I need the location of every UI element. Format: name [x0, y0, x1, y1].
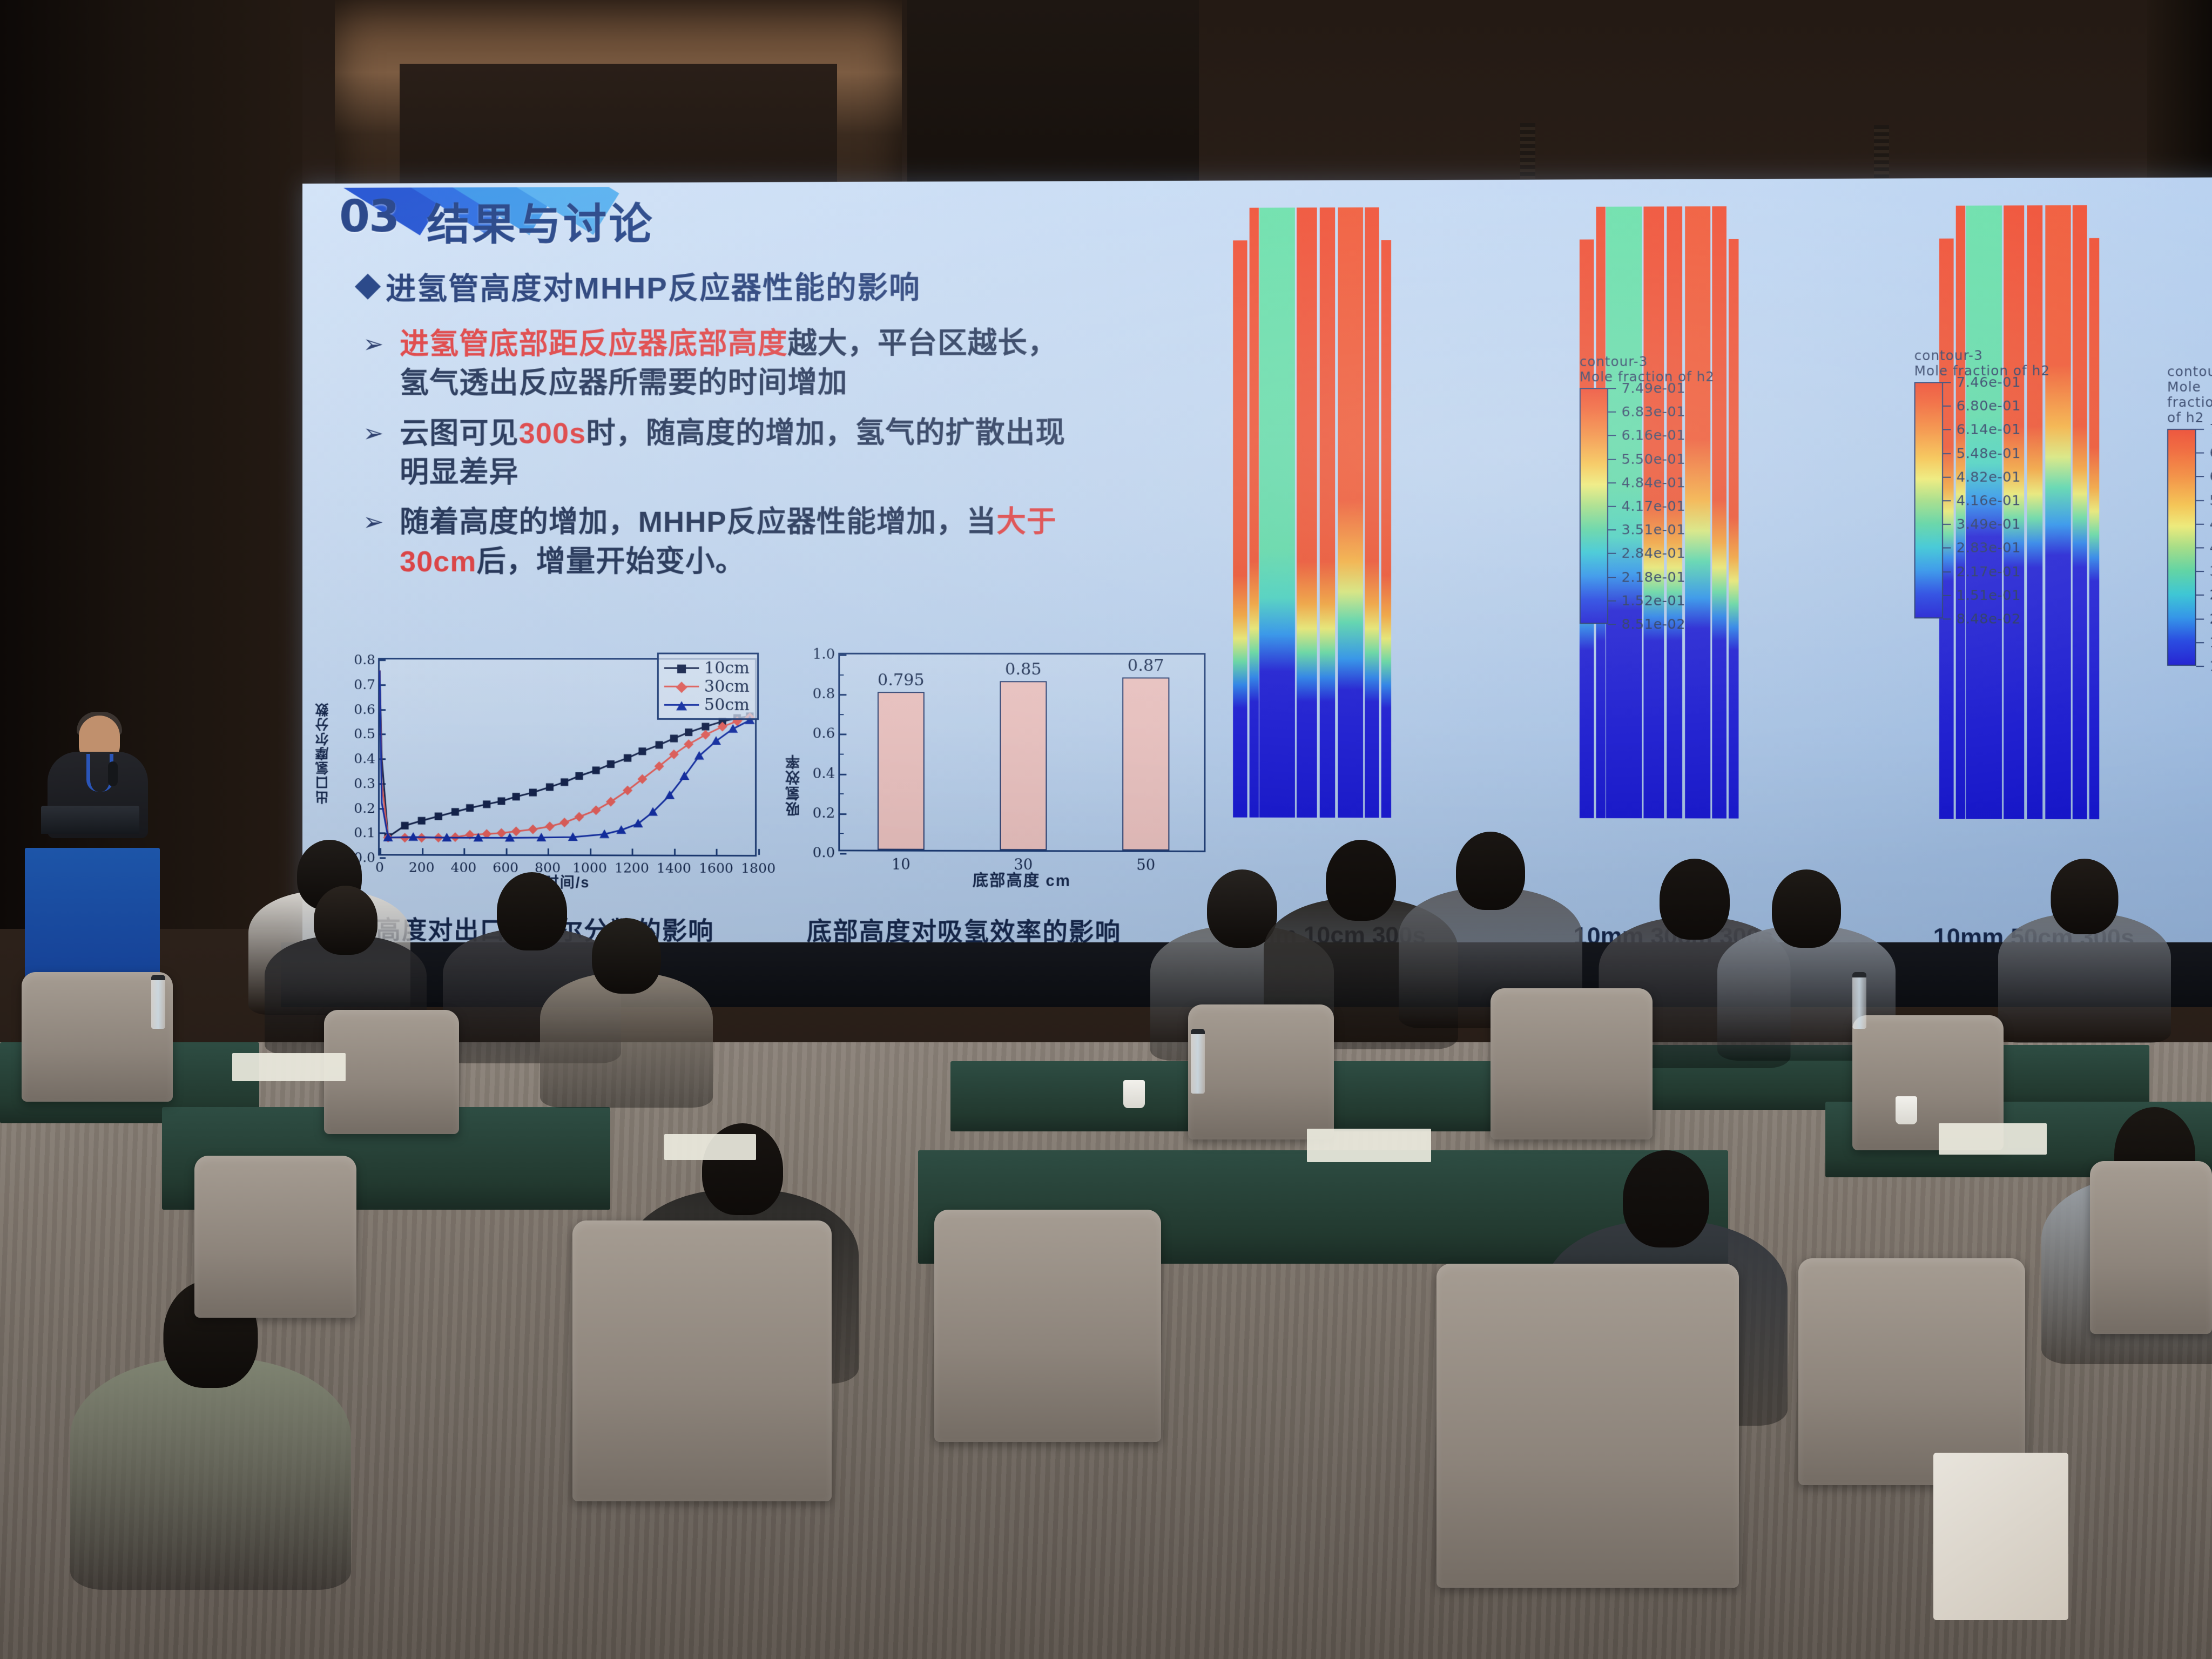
- bar-chart-xlabel: 底部高度 cm: [838, 868, 1205, 892]
- colorbar-tick: [1608, 600, 1616, 601]
- colorbar-value: 4.23e-01: [2209, 539, 2212, 555]
- paper-cup: [1123, 1080, 1145, 1108]
- contour-legend-1: contour-3Mole fraction of h27.49e-016.83…: [1580, 354, 1715, 624]
- line-marker: [528, 825, 538, 834]
- colorbar-value: 4.84e-01: [1622, 474, 1686, 490]
- contour-legend-body: 7.49e-016.83e-016.16e-015.50e-014.84e-01…: [1580, 388, 1715, 624]
- colorbar-tick: [1943, 524, 1951, 525]
- person-head: [1326, 840, 1396, 921]
- bar-chart-ytick-mark: [840, 734, 846, 736]
- legend-label: 30cm: [704, 677, 750, 696]
- bar-chart-ytick-mark: [840, 773, 846, 775]
- colorbar-value: 4.16e-01: [1957, 493, 2021, 508]
- colorbar-value: 3.49e-01: [1957, 516, 2021, 531]
- audience-chair: [2090, 1161, 2212, 1334]
- arrow-bullet-icon: ➢: [363, 419, 384, 448]
- line-marker: [466, 804, 474, 812]
- contour-tube-column: [1297, 207, 1317, 818]
- colorbar-ticks: [2196, 429, 2206, 666]
- colorbar-value: 2.33e-01: [2209, 610, 2212, 626]
- line-marker: [401, 822, 409, 829]
- line-marker: [529, 788, 537, 796]
- line-chart-ytick-mark: [380, 857, 386, 859]
- colorbar-value: 1.69e-01: [2209, 634, 2212, 650]
- tote-bag: [1933, 1453, 2068, 1620]
- bar-value-label: 0.795: [878, 671, 925, 690]
- bullet-text-segment: 时，随高度的增加，氢气的扩散出现: [586, 416, 1065, 449]
- bar-chart-minor-tick: [840, 754, 844, 755]
- audience-chair: [1437, 1264, 1739, 1588]
- colorbar-tick: [1608, 435, 1616, 436]
- arrow-bullet-icon: ➢: [363, 329, 384, 359]
- line-marker: [435, 813, 442, 820]
- contour-tube-column: [1365, 207, 1379, 818]
- contour-tube-column: [1250, 208, 1259, 818]
- contour-legend-title: contour-3: [1580, 354, 1715, 369]
- colorbar-tick: [1608, 553, 1616, 554]
- legend-marker-icon: [677, 664, 686, 673]
- contour-legend-subtitle: Mole fraction of h2: [2167, 379, 2212, 426]
- audience-chair: [194, 1156, 356, 1318]
- legend-label: 50cm: [704, 695, 750, 714]
- bar: 0.85: [1000, 681, 1047, 850]
- line-chart-ytick: 0.7: [354, 676, 375, 692]
- bullet-text-segment: 云图可见: [400, 417, 519, 449]
- colorbar-tick: [1943, 571, 1951, 572]
- bullet-line: 30cm后，增量开始变小。: [400, 542, 1250, 581]
- line-marker: [496, 828, 506, 838]
- colorbar-value: 3.59e-01: [2209, 563, 2212, 579]
- bullet-text-segment: 30cm: [400, 545, 476, 578]
- person-head: [592, 918, 661, 994]
- bar-chart-ytick: 0.8: [813, 686, 835, 702]
- line-marker: [575, 772, 583, 780]
- line-chart-ytick: 0.1: [354, 825, 375, 840]
- bullet-text-segment: 越大，平台区越长，: [788, 327, 1058, 360]
- colorbar-value: 5.48e-01: [1957, 445, 2021, 461]
- contour-tube-column: [1381, 240, 1391, 818]
- colorbar-value: 4.82e-01: [1957, 469, 2021, 485]
- slide-subheading: 进氢管高度对MHHP反应器性能的影响: [359, 263, 921, 308]
- bullet-line: 明显差异: [400, 452, 1250, 492]
- contour-panel-group: 10mm 10cm 300s10mm 30cm 300s10mm 50cm 30…: [1228, 199, 2212, 935]
- line-chart-ytick: 0.3: [354, 775, 375, 791]
- bar-chart-ylabel: 吸氢效率: [784, 703, 803, 817]
- colorbar-value: 2.96e-01: [2209, 586, 2212, 603]
- colorbar-value: 6.12e-01: [2209, 468, 2212, 484]
- bar-chart-minor-tick: [840, 833, 844, 834]
- line-chart-xlabel: 时间/s: [378, 870, 757, 892]
- bar: 0.795: [878, 692, 925, 850]
- person-head: [497, 872, 567, 950]
- legend-entry: 10cm: [664, 659, 749, 677]
- contour-legend-body: 7.39e-016.76e-016.12e-015.49e-014.86e-01…: [2167, 429, 2212, 666]
- bar-chart-ytick-mark: [840, 853, 846, 854]
- line-marker: [638, 747, 646, 755]
- line-chart: 出口氢摩尔分数 0.00.10.20.30.40.50.60.70.802004…: [314, 648, 764, 903]
- colorbar-tick: [1943, 429, 1951, 430]
- bar-chart-ytick: 0.2: [813, 805, 835, 821]
- contour-legend-3: contour-3Mole fraction of h27.39e-016.76…: [2167, 364, 2212, 666]
- colorbar-value: 3.51e-01: [1622, 522, 1686, 537]
- contour-legend-title: contour-3: [2167, 364, 2212, 380]
- audience-chair: [22, 972, 173, 1102]
- colorbar-tick: [1943, 406, 1951, 407]
- line-chart-ytick: 0.8: [354, 652, 375, 667]
- colorbar: [2167, 429, 2196, 666]
- colorbar-tick: [1943, 548, 1951, 549]
- colorbar-value: 1.52e-01: [1622, 592, 1686, 608]
- colorbar-tick: [2196, 547, 2204, 548]
- line-marker: [606, 797, 616, 807]
- podium-laptop: [41, 806, 139, 834]
- bullet-line: 氢气透出反应器所需要的时间增加: [400, 362, 1250, 403]
- bullet-text-segment: 大于: [996, 506, 1056, 538]
- bar-chart-ytick: 0.0: [813, 845, 835, 861]
- bullet-line: 随着高度的增加，MHHP反应器性能增加，当大于: [400, 502, 1250, 542]
- line-marker: [497, 797, 505, 805]
- colorbar-value: 2.84e-01: [1622, 545, 1686, 561]
- contour-legend-title: contour-3: [1914, 348, 2050, 363]
- bar-chart-ytick: 0.6: [813, 726, 835, 742]
- colorbar-tick: [1608, 624, 1616, 625]
- contour-tube-column: [1338, 207, 1363, 818]
- colorbar-value: 4.86e-01: [2209, 516, 2212, 532]
- line-chart-ytick: 0.5: [354, 726, 375, 741]
- colorbar-value: 5.49e-01: [2209, 492, 2212, 508]
- colorbar-value: 5.50e-01: [1622, 451, 1686, 467]
- line-marker: [624, 754, 631, 762]
- colorbar-tick: [1608, 458, 1616, 460]
- colorbar-value: 2.83e-01: [1957, 539, 2021, 555]
- colorbar-tick: [2196, 595, 2204, 596]
- colorbar-tick: [1608, 506, 1616, 507]
- line-marker: [559, 818, 569, 827]
- projection-screen: 03 结果与讨论 进氢管高度对MHHP反应器性能的影响 ➢进氢管底部距反应器底部…: [302, 177, 2212, 956]
- line-marker: [702, 723, 709, 730]
- contour-plot-1: [1233, 207, 1398, 818]
- microphone: [108, 761, 118, 786]
- line-marker: [483, 800, 490, 808]
- colorbar-value: 2.18e-01: [1622, 569, 1686, 584]
- colorbar-tick: [2196, 666, 2204, 667]
- legend-marker-icon: [676, 701, 687, 710]
- colorbar: [1914, 382, 1943, 618]
- document-sheet: [1307, 1129, 1431, 1162]
- water-bottle: [1852, 972, 1866, 1029]
- line-marker: [418, 817, 426, 825]
- line-marker: [670, 734, 678, 742]
- colorbar-value: 7.49e-01: [1622, 380, 1686, 396]
- colorbar-tick: [2196, 429, 2204, 430]
- stage-left-shadow: [0, 0, 302, 929]
- line-marker: [512, 793, 520, 800]
- contour-tube-column: [1319, 207, 1335, 818]
- colorbar-tick: [2196, 500, 2204, 501]
- bar-chart-ytick: 1.0: [813, 646, 835, 663]
- bullet-item: ➢随着高度的增加，MHHP反应器性能增加，当大于30cm后，增量开始变小。: [400, 502, 1250, 581]
- person-head: [1772, 869, 1841, 948]
- colorbar-tick: [1608, 412, 1616, 413]
- line-marker: [700, 730, 710, 740]
- colorbar-tick: [2196, 476, 2204, 477]
- bar-value-label: 0.85: [1005, 660, 1042, 679]
- line-marker: [592, 766, 600, 774]
- colorbar-tick: [2196, 571, 2204, 572]
- water-bottle: [1191, 1029, 1205, 1094]
- audience-chair: [572, 1220, 832, 1501]
- audience-chair: [1188, 1004, 1334, 1139]
- line-marker: [546, 783, 554, 791]
- line-chart-ytick: 0.4: [354, 751, 375, 766]
- bullet-item: ➢进氢管底部距反应器底部高度越大，平台区越长，氢气透出反应器所需要的时间增加: [400, 323, 1250, 403]
- colorbar-tick: [1943, 382, 1951, 383]
- line-marker: [711, 736, 721, 745]
- person-shoulders: [70, 1358, 351, 1590]
- subheading-text: 进氢管高度对MHHP反应器性能的影响: [386, 263, 921, 308]
- colorbar-tick: [2196, 618, 2204, 619]
- colorbar-value: 6.80e-01: [1957, 397, 2021, 414]
- water-bottle: [151, 975, 165, 1029]
- legend-label: 10cm: [704, 658, 750, 677]
- bullet-text-segment: 随着高度的增加，MHHP反应器性能增加，当: [400, 506, 996, 539]
- document-sheet: [1939, 1123, 2047, 1155]
- legend-entry: 30cm: [664, 677, 749, 696]
- section-number: 03: [339, 191, 399, 242]
- contour-tube-column: [2089, 238, 2100, 819]
- diamond-bullet-icon: [355, 273, 381, 299]
- line-marker: [656, 741, 663, 748]
- line-marker: [451, 808, 459, 815]
- legend-line-swatch: [664, 667, 698, 669]
- legend-marker-icon: [676, 682, 687, 693]
- colorbar-tick: [2196, 524, 2204, 525]
- colorbar-tick: [1608, 577, 1616, 578]
- bar-chart-ytick-mark: [840, 694, 846, 696]
- line-marker: [561, 778, 568, 786]
- contour-tube-column: [1233, 240, 1247, 817]
- colorbar-value: 7.46e-01: [1957, 374, 2021, 390]
- bullet-text-segment: 进氢管底部距反应器底部高度: [400, 327, 787, 361]
- person-head: [314, 886, 377, 955]
- person-head: [1660, 859, 1730, 940]
- colorbar-value: 6.14e-01: [1957, 421, 2021, 437]
- colorbar-tick: [1608, 529, 1616, 530]
- bullet-text-segment: 明显差异: [400, 456, 519, 489]
- person-head: [1456, 832, 1525, 910]
- legend-line-swatch: [664, 704, 698, 705]
- colorbar-value: 8.51e-02: [1622, 616, 1686, 631]
- contour-tube-column: [1729, 239, 1738, 819]
- document-sheet: [664, 1134, 756, 1160]
- legend-line-swatch: [664, 685, 698, 687]
- line-chart-xtick-mark: [758, 849, 760, 855]
- bar: 0.87: [1122, 677, 1169, 851]
- bar-chart-minor-tick: [840, 793, 844, 794]
- bar-chart-minor-tick: [840, 714, 844, 715]
- colorbar-tick: [1608, 482, 1616, 483]
- bar-chart-ytick-mark: [840, 655, 846, 656]
- colorbar-ticks: [1608, 388, 1617, 624]
- colorbar-tick: [1943, 500, 1951, 501]
- slide-title: 结果与讨论: [427, 189, 655, 252]
- line-marker: [545, 821, 555, 831]
- person-head: [2051, 859, 2119, 934]
- colorbar: [1580, 388, 1608, 624]
- bullet-text-segment: 氢气透出反应器所需要的时间增加: [400, 367, 847, 400]
- paper-cup: [1896, 1096, 1917, 1124]
- line-marker: [574, 812, 584, 822]
- bullet-list: ➢进氢管底部距反应器底部高度越大，平台区越长，氢气透出反应器所需要的时间增加➢云…: [400, 323, 1250, 592]
- colorbar-value: 1.06e-01: [2209, 658, 2212, 674]
- line-marker: [607, 760, 615, 768]
- contour-legend-2: contour-3Mole fraction of h27.46e-016.80…: [1914, 348, 2050, 618]
- line-marker: [684, 739, 693, 749]
- line-marker: [728, 724, 738, 733]
- colorbar-value: 6.83e-01: [1622, 403, 1686, 419]
- colorbar-tick: [1943, 595, 1951, 596]
- line-chart-legend: 10cm30cm50cm: [657, 652, 759, 720]
- colorbar-tick: [2196, 453, 2204, 454]
- line-marker: [591, 805, 601, 815]
- person-head: [1623, 1150, 1709, 1247]
- bullet-item: ➢云图可见300s时，随高度的增加，氢气的扩散出现明显差异: [400, 413, 1250, 492]
- bar-chart-plot-area: 0.00.20.40.60.81.00.795100.85300.8750: [838, 653, 1205, 852]
- colorbar-value: 6.16e-01: [1622, 427, 1686, 443]
- colorbar-tick: [1943, 476, 1951, 477]
- audience-chair: [934, 1210, 1161, 1442]
- document-sheet: [232, 1053, 346, 1081]
- bullet-text-segment: 300s: [519, 417, 586, 449]
- audience-chair: [1491, 988, 1653, 1139]
- audience-chair: [1798, 1258, 2025, 1485]
- colorbar-tick: [1608, 388, 1616, 389]
- bar-chart-ytick: 0.4: [813, 765, 835, 781]
- line-marker: [511, 826, 521, 836]
- bar-chart: 吸氢效率 0.00.20.40.60.81.00.795100.85300.87…: [779, 643, 1211, 905]
- contour-legend-body: 7.46e-016.80e-016.14e-015.48e-014.82e-01…: [1914, 382, 2050, 618]
- contour-tube-column: [2073, 205, 2087, 819]
- colorbar-ticks: [1943, 382, 1952, 618]
- colorbar-value: 7.39e-01: [2209, 421, 2212, 437]
- arrow-bullet-icon: ➢: [363, 507, 384, 536]
- bullet-line: 进氢管底部距反应器底部高度越大，平台区越长，: [400, 323, 1250, 364]
- colorbar-value: 4.17e-01: [1622, 498, 1686, 514]
- colorbar-tick: [1943, 618, 1951, 619]
- bar-chart-ytick-mark: [840, 813, 846, 815]
- line-marker: [685, 729, 692, 736]
- colorbar-value: 8.48e-02: [1957, 611, 2021, 626]
- colorbar-value: 6.76e-01: [2209, 444, 2212, 461]
- bar-value-label: 0.87: [1128, 656, 1164, 675]
- contour-tube-column: [1259, 207, 1295, 817]
- colorbar-tick: [2196, 642, 2204, 643]
- bar-chart-minor-tick: [840, 674, 844, 675]
- colorbar-tick: [1943, 453, 1951, 454]
- legend-entry: 50cm: [664, 696, 749, 714]
- bullet-text-segment: 后，增量开始变小。: [477, 545, 745, 578]
- line-chart-ytick: 0.6: [354, 701, 375, 717]
- line-chart-ytick: 0.2: [354, 800, 375, 815]
- line-chart-ylabel: 出口氢摩尔分数: [312, 670, 334, 837]
- colorbar-value: 2.17e-01: [1957, 563, 2021, 579]
- bullet-line: 云图可见300s时，随高度的增加，氢气的扩散出现: [400, 413, 1250, 453]
- colorbar-value: 1.51e-01: [1957, 587, 2021, 603]
